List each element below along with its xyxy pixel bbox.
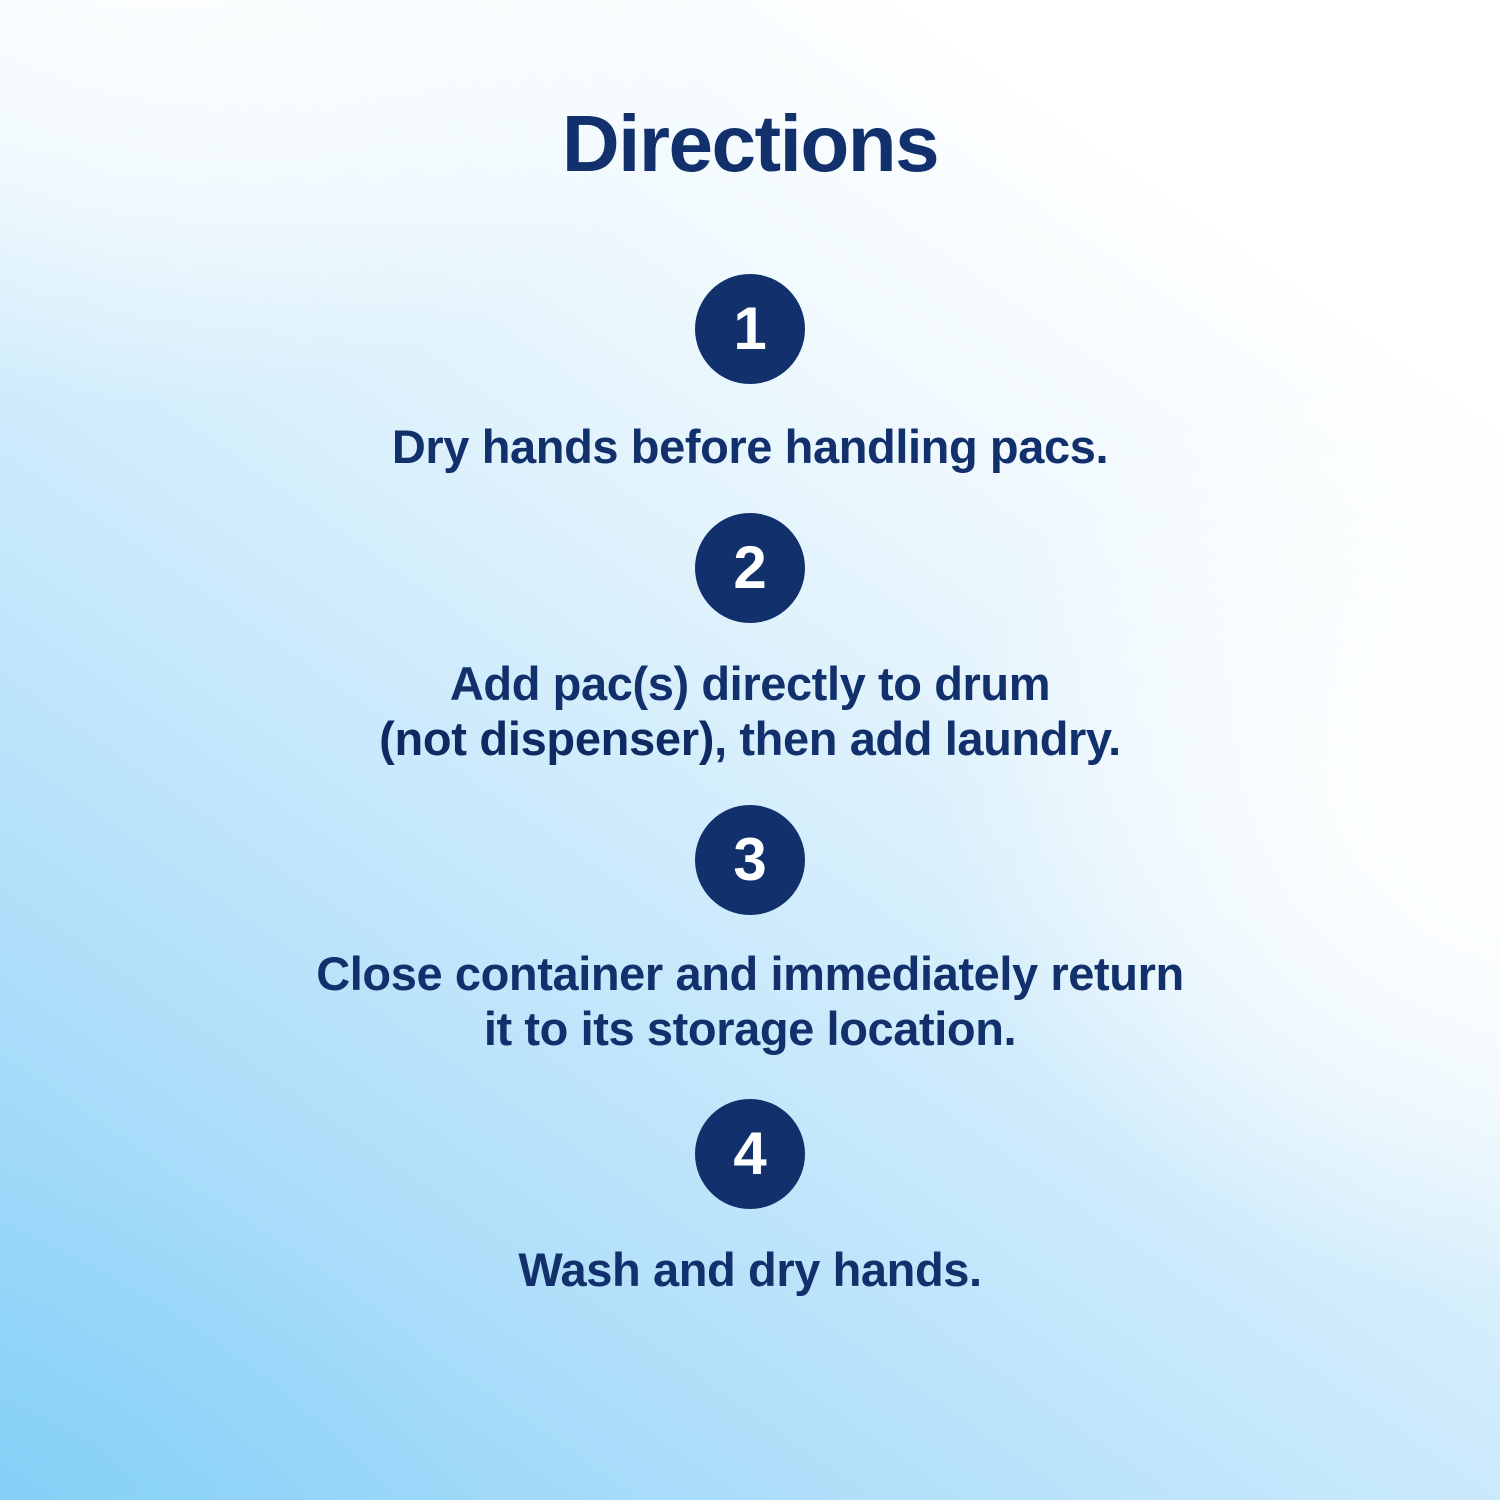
step-text-2: Add pac(s) directly to drum (not dispens… — [379, 657, 1121, 767]
direction-step-4: 4 Wash and dry hands. — [0, 1057, 1500, 1298]
step-number-badge-1: 1 — [695, 274, 805, 384]
step-text-4: Wash and dry hands. — [518, 1243, 981, 1298]
page-title: Directions — [562, 104, 938, 184]
poster-content: Directions 1 Dry hands before handling p… — [0, 0, 1500, 1500]
step-1-line-1: Dry hands before handling pacs. — [392, 420, 1108, 473]
direction-step-3: 3 Close container and immediately return… — [0, 767, 1500, 1057]
step-text-1: Dry hands before handling pacs. — [392, 420, 1108, 475]
step-3-line-1: Close container and immediately return — [316, 947, 1184, 1000]
step-2-emphasis: (not dispenser) — [379, 712, 714, 765]
step-2-line-1: Add pac(s) directly to drum — [450, 657, 1050, 710]
step-4-line-1: Wash and dry hands. — [518, 1243, 981, 1296]
directions-step-list: 1 Dry hands before handling pacs. 2 Add … — [0, 184, 1500, 1298]
step-3-line-2: it to its storage location. — [484, 1002, 1016, 1055]
step-number-badge-4: 4 — [695, 1099, 805, 1209]
step-text-3: Close container and immediately return i… — [316, 947, 1184, 1057]
step-2-line-2: , then add laundry. — [714, 712, 1121, 765]
step-number-badge-2: 2 — [695, 513, 805, 623]
direction-step-1: 1 Dry hands before handling pacs. — [0, 184, 1500, 475]
direction-step-2: 2 Add pac(s) directly to drum (not dispe… — [0, 475, 1500, 767]
directions-poster: Directions 1 Dry hands before handling p… — [0, 0, 1500, 1500]
step-number-badge-3: 3 — [695, 805, 805, 915]
